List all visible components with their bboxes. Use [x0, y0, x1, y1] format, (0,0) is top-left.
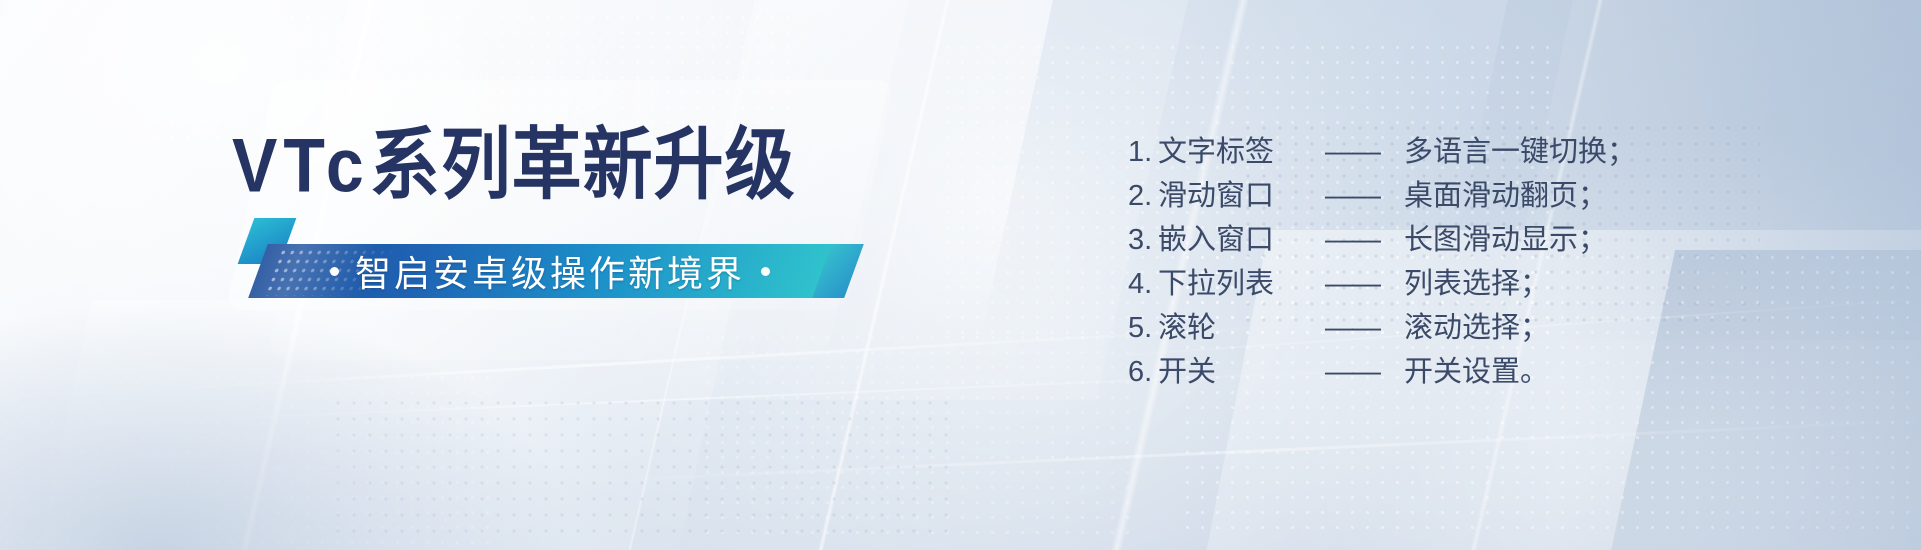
page-title-latin: VTc — [232, 123, 370, 208]
feature-row-5: 5. 滚轮 —— 滚动选择； — [1128, 306, 1636, 350]
feature-row-2: 2. 滑动窗口 —— 桌面滑动翻页； — [1128, 174, 1636, 218]
feature-desc-6: 开关设置。 — [1386, 350, 1549, 394]
feature-index-5: 5. — [1128, 306, 1158, 350]
feature-index-6: 6. — [1128, 350, 1158, 394]
feature-dash-2: —— — [1318, 174, 1386, 218]
bullet-dot-left-icon — [330, 267, 339, 276]
feature-name-6: 开关 — [1158, 350, 1318, 394]
subtitle-banner: 智启安卓级操作新境界 — [246, 218, 846, 300]
feature-row-3: 3. 嵌入窗口 —— 长图滑动显示； — [1128, 218, 1636, 262]
feature-row-4: 4. 下拉列表 —— 列表选择； — [1128, 262, 1636, 306]
feature-dash-5: —— — [1318, 306, 1386, 350]
feature-desc-5: 滚动选择； — [1386, 306, 1549, 350]
feature-dash-1: —— — [1318, 130, 1386, 174]
subtitle-text: 智启安卓级操作新境界 — [355, 245, 745, 297]
page-title: VTc系列革新升级 — [232, 123, 796, 207]
banner-canvas: VTc系列革新升级 智启安卓级操作新境界 1. 文字标签 —— 多语言一键切换；… — [0, 0, 1921, 550]
bullet-dot-right-icon — [761, 267, 770, 276]
feature-desc-2: 桌面滑动翻页； — [1386, 174, 1607, 218]
feature-name-2: 滑动窗口 — [1158, 174, 1318, 218]
feature-list: 1. 文字标签 —— 多语言一键切换； 2. 滑动窗口 —— 桌面滑动翻页； 3… — [1128, 130, 1636, 394]
feature-desc-4: 列表选择； — [1386, 262, 1549, 306]
background-dot-pattern-dark-2 — [330, 395, 950, 545]
feature-row-1: 1. 文字标签 —— 多语言一键切换； — [1128, 130, 1636, 174]
feature-index-2: 2. — [1128, 174, 1158, 218]
feature-name-4: 下拉列表 — [1158, 262, 1318, 306]
feature-desc-3: 长图滑动显示； — [1386, 218, 1607, 262]
feature-index-4: 4. — [1128, 262, 1158, 306]
feature-dash-3: —— — [1318, 218, 1386, 262]
page-title-cjk: 系列革新升级 — [370, 121, 796, 208]
feature-index-3: 3. — [1128, 218, 1158, 262]
feature-desc-1: 多语言一键切换； — [1386, 130, 1636, 174]
feature-name-5: 滚轮 — [1158, 306, 1318, 350]
subtitle-text-row: 智启安卓级操作新境界 — [276, 245, 824, 297]
feature-name-1: 文字标签 — [1158, 130, 1318, 174]
feature-name-3: 嵌入窗口 — [1158, 218, 1318, 262]
feature-index-1: 1. — [1128, 130, 1158, 174]
feature-dash-4: —— — [1318, 262, 1386, 306]
feature-row-6: 6. 开关 —— 开关设置。 — [1128, 350, 1636, 394]
feature-dash-6: —— — [1318, 350, 1386, 394]
